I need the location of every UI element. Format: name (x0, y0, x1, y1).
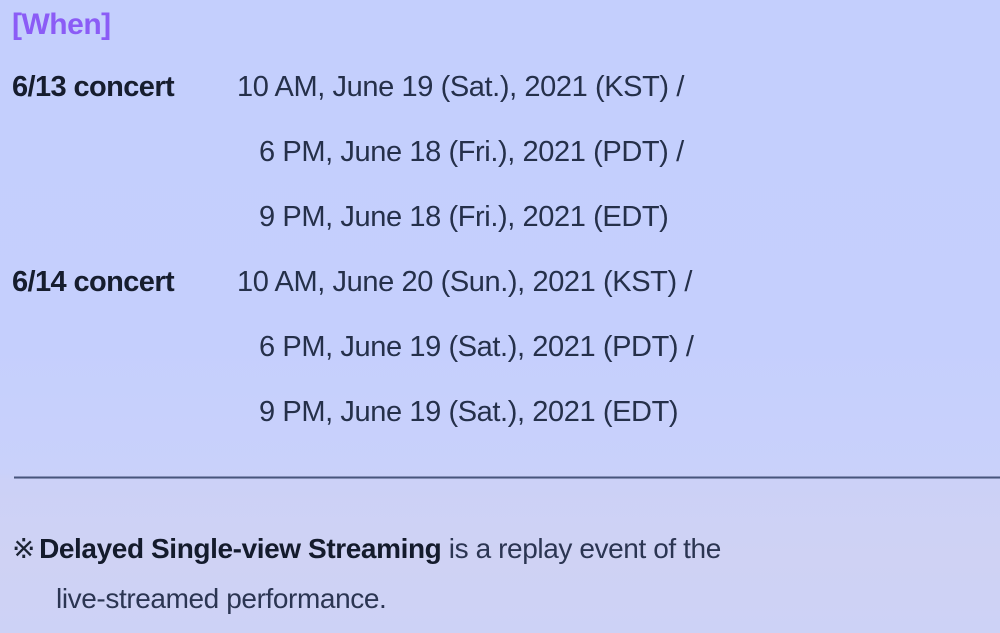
concert-time-value: 6 PM, June 19 (Sat.), 2021 (PDT) / (237, 331, 819, 364)
concert-time-value: 9 PM, June 19 (Sat.), 2021 (EDT) (237, 396, 819, 429)
concert-time-value: 9 PM, June 18 (Fri.), 2021 (EDT) (237, 201, 819, 234)
schedule-list: 6/13 concert 10 AM, June 19 (Sat.), 2021… (0, 68, 1000, 458)
schedule-row: 9 PM, June 18 (Fri.), 2021 (EDT) (0, 198, 1000, 263)
schedule-row: 6 PM, June 19 (Sat.), 2021 (PDT) / (0, 328, 1000, 393)
concert-date-label: 6/14 concert (12, 266, 224, 299)
section-divider (14, 476, 1000, 479)
concert-time-value: 10 AM, June 19 (Sat.), 2021 (KST) / (237, 71, 797, 104)
concert-time-value: 6 PM, June 18 (Fri.), 2021 (PDT) / (237, 136, 819, 169)
page-title: [When] (12, 8, 111, 41)
schedule-row: 6 PM, June 18 (Fri.), 2021 (PDT) / (0, 133, 1000, 198)
footnote-note: ※Delayed Single-view Streaming is a repl… (12, 524, 972, 624)
reference-mark-icon: ※ (12, 533, 35, 564)
schedule-row: 6/13 concert 10 AM, June 19 (Sat.), 2021… (0, 68, 1000, 133)
concert-time-value: 10 AM, June 20 (Sun.), 2021 (KST) / (237, 266, 797, 299)
when-schedule-panel: [When] 6/13 concert 10 AM, June 19 (Sat.… (0, 0, 1000, 633)
schedule-row: 6/14 concert 10 AM, June 20 (Sun.), 2021… (0, 263, 1000, 328)
footnote-emphasis: Delayed Single-view Streaming (39, 533, 441, 564)
footnote-text: is a replay event of the (441, 533, 721, 564)
concert-date-label: 6/13 concert (12, 71, 224, 104)
schedule-row: 9 PM, June 19 (Sat.), 2021 (EDT) (0, 393, 1000, 458)
footnote-text-line2: live-streamed performance. (12, 574, 972, 624)
